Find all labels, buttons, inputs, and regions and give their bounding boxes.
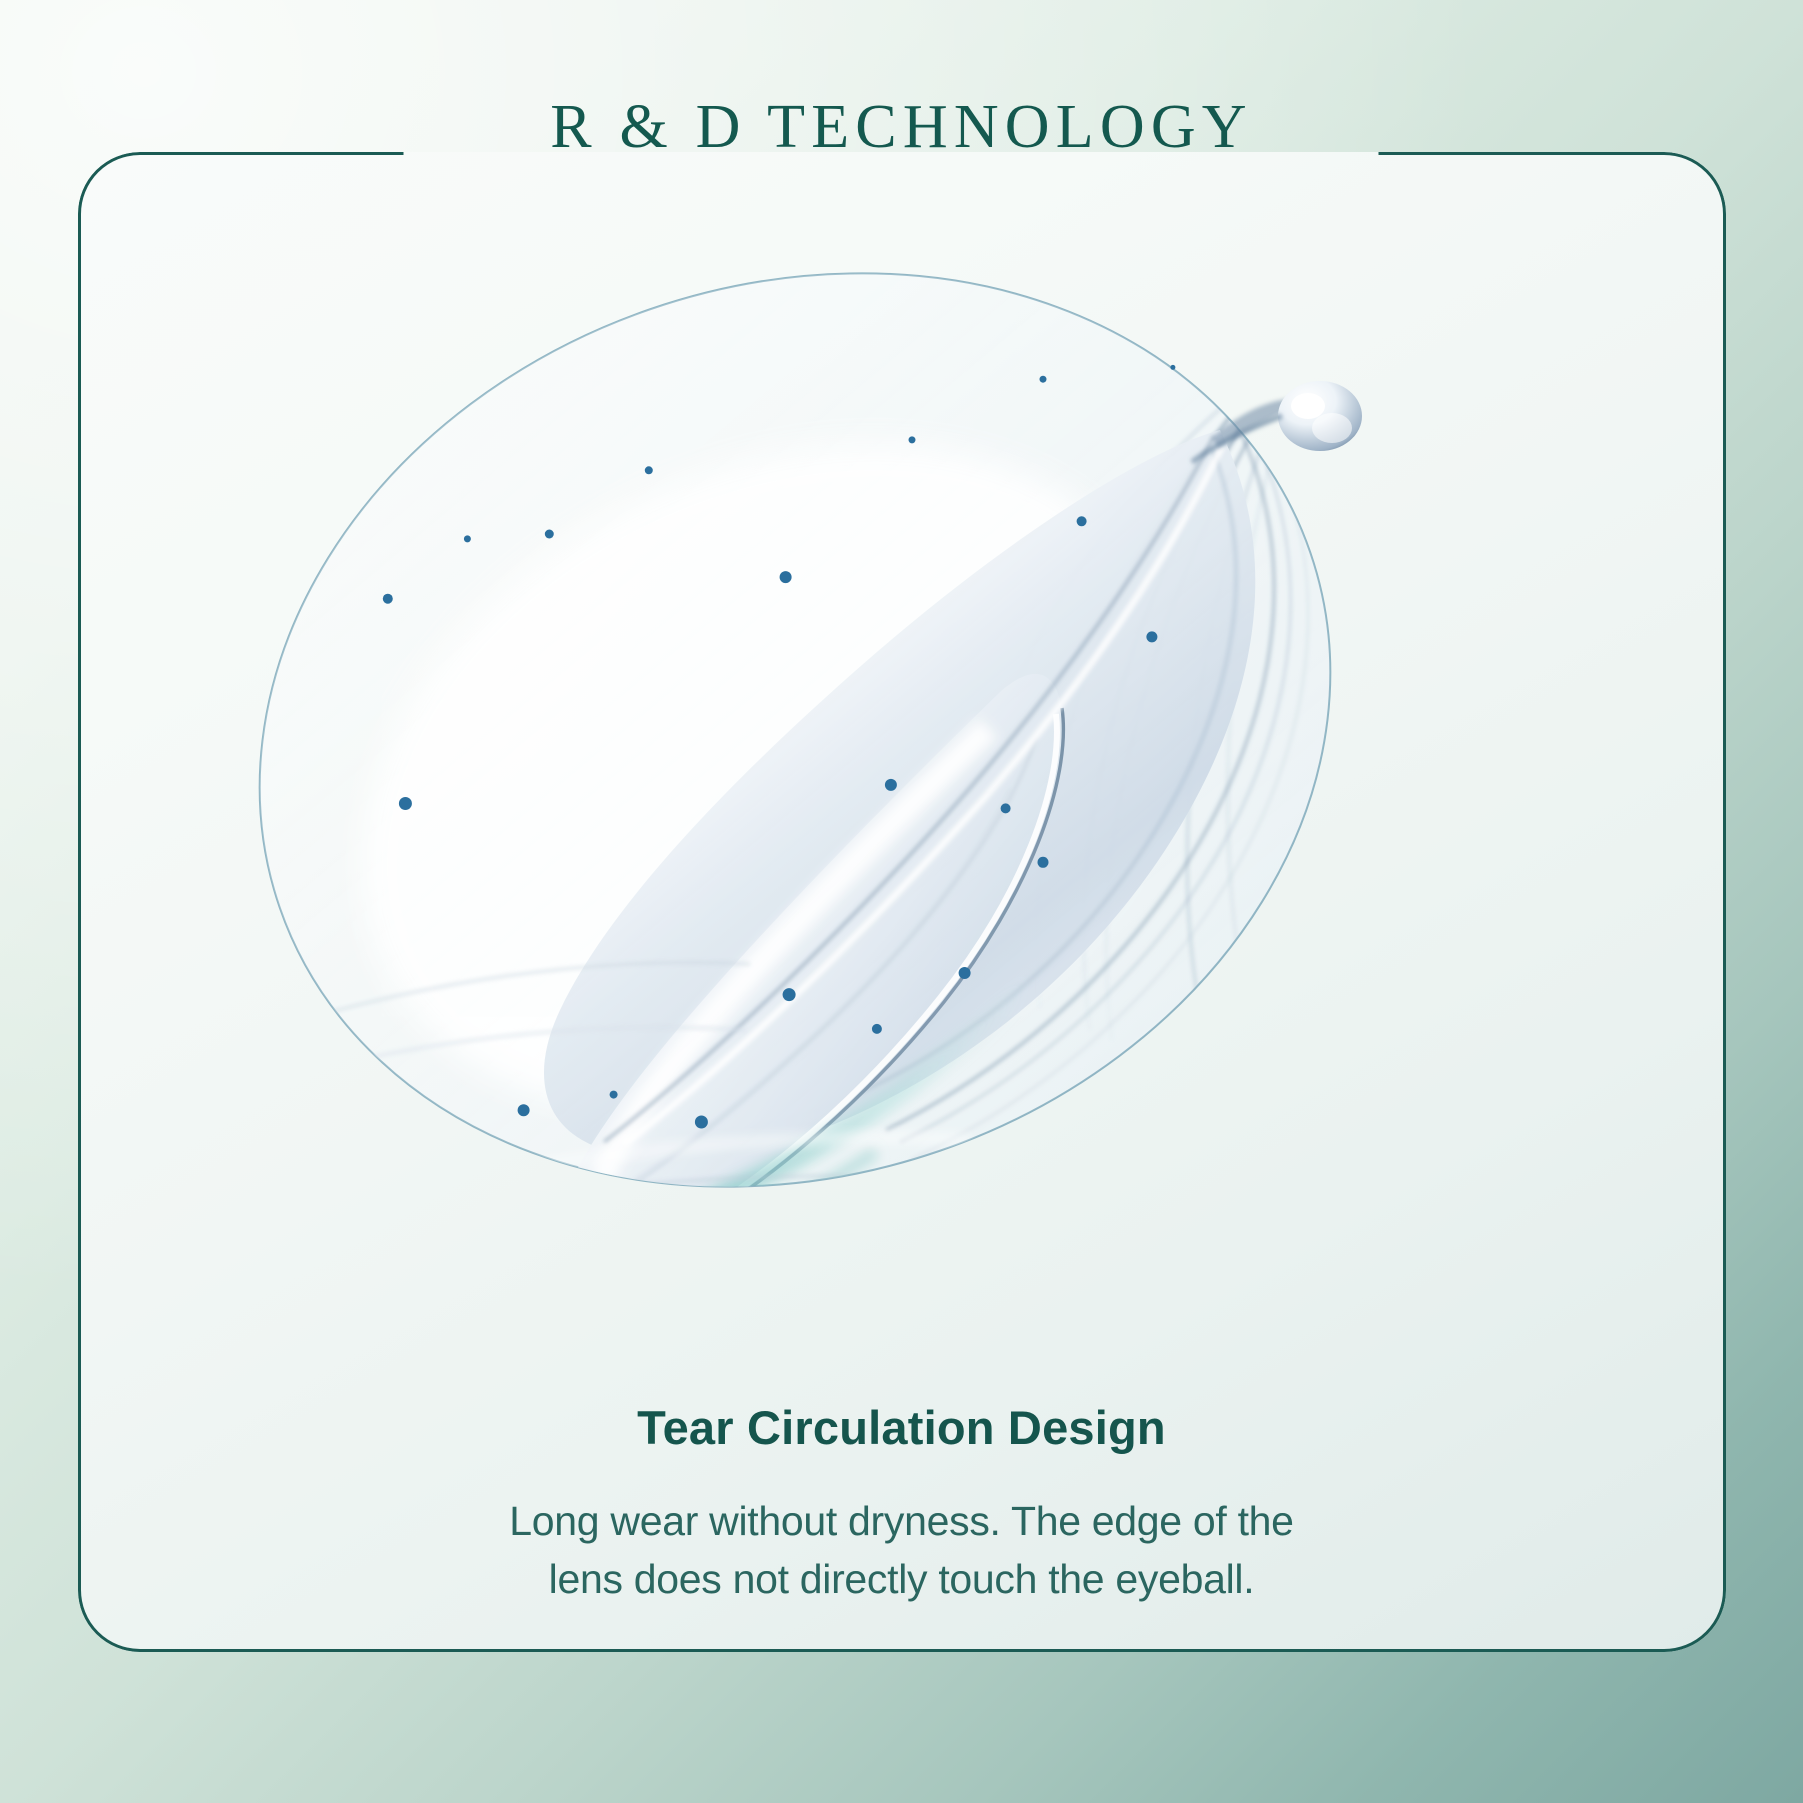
feature-description: Long wear without dryness. The edge of t… (300, 1492, 1503, 1608)
micro-dot (383, 594, 393, 604)
poster-canvas: R & D TECHNOLOGY (0, 0, 1803, 1803)
micro-dot (959, 967, 971, 979)
micro-dot (399, 797, 412, 810)
page-title: R & D TECHNOLOGY (0, 96, 1803, 158)
micro-dot (1170, 365, 1175, 370)
lens-artwork (210, 240, 1380, 1220)
micro-dot (464, 535, 471, 542)
micro-dot (780, 571, 792, 583)
micro-dot (1040, 376, 1047, 383)
micro-dot (885, 779, 897, 791)
micro-dot (1146, 631, 1157, 642)
micro-dot (872, 1024, 882, 1034)
feature-description-line-1: Long wear without dryness. The edge of t… (300, 1492, 1503, 1550)
feature-description-line-2: lens does not directly touch the eyeball… (300, 1550, 1503, 1608)
micro-dot (1077, 516, 1087, 526)
micro-dot (1001, 803, 1011, 813)
micro-dot (545, 530, 554, 539)
micro-dot (695, 1116, 708, 1129)
feature-heading: Tear Circulation Design (0, 1400, 1803, 1455)
micro-dot (610, 1091, 618, 1099)
micro-dot (783, 988, 796, 1001)
lens-illustration (210, 240, 1380, 1220)
lens-illustration-svg (210, 240, 1380, 1220)
micro-dot (518, 1104, 530, 1116)
micro-dot (1038, 857, 1049, 868)
micro-dot (909, 436, 916, 443)
micro-dot (645, 466, 653, 474)
